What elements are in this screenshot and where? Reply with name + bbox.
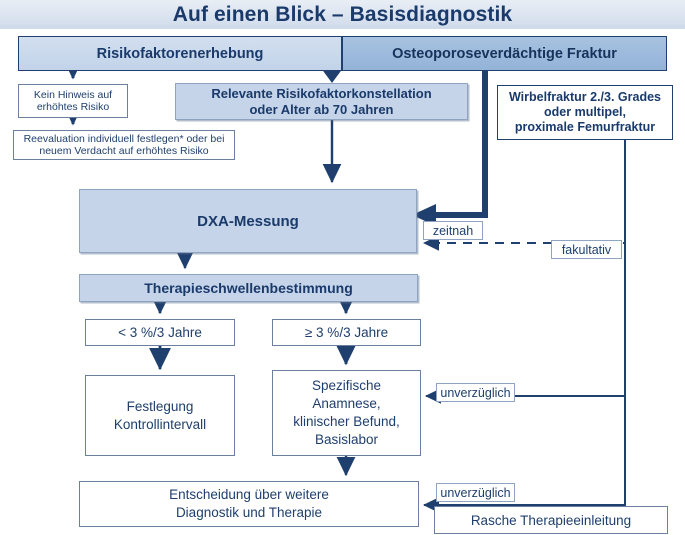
box-schwelle-ab-3-prozent[interactable]: ≥ 3 %/3 Jahre — [272, 319, 421, 346]
box-spezifische-label: Spezifische Anamnese, klinischer Befund,… — [293, 377, 400, 449]
edge-label-unverzueglich-spezifische: unverzüglich — [436, 383, 515, 402]
box-relevante-label: Relevante Risikofaktorkonstellation oder… — [211, 86, 431, 118]
box-wirbelfraktur[interactable]: Wirbelfraktur 2./3. Grades oder multipel… — [497, 85, 673, 140]
edge-label-unverzueglich-entscheidung: unverzüglich — [436, 483, 515, 502]
edge-label-zeitnah-text: zeitnah — [433, 224, 473, 238]
box-reevaluation-label: Reevaluation individuell festlegen* oder… — [24, 133, 225, 158]
box-therapieschwelle-label: Therapieschwellenbestimmung — [144, 280, 353, 296]
box-lt3-label: < 3 %/3 Jahre — [118, 325, 202, 340]
box-schwelle-unter-3-prozent[interactable]: < 3 %/3 Jahre — [85, 319, 235, 346]
box-festlegung-kontrollintervall[interactable]: Festlegung Kontrollintervall — [85, 375, 235, 456]
edge-wirbelfraktur-trunk — [434, 140, 625, 505]
box-therapieschwellenbestimmung[interactable]: Therapieschwellenbestimmung — [79, 274, 418, 302]
box-rasche-label: Rasche Therapieeinleitung — [471, 513, 631, 528]
edge-label-unverzueglich-1-text: unverzüglich — [440, 386, 510, 400]
box-rasche-therapieeinleitung[interactable]: Rasche Therapieeinleitung — [434, 506, 668, 534]
edge-label-fakultativ: fakultativ — [551, 240, 622, 259]
box-entscheidung-label: Entscheidung über weitere Diagnostik und… — [169, 486, 329, 522]
box-entscheidung-weitere-diagnostik[interactable]: Entscheidung über weitere Diagnostik und… — [79, 481, 419, 527]
header-right-label: Osteoporoseverdächtige Fraktur — [392, 46, 617, 62]
box-spezifische-anamnese[interactable]: Spezifische Anamnese, klinischer Befund,… — [272, 370, 421, 456]
box-wirbelfraktur-label: Wirbelfraktur 2./3. Grades oder multipel… — [509, 90, 661, 135]
header-box-osteoporoseverdaechtige-fraktur[interactable]: Osteoporoseverdächtige Fraktur — [342, 36, 667, 71]
box-dxa-messung[interactable]: DXA-Messung — [79, 189, 417, 253]
box-kein-hinweis[interactable]: Kein Hinweis auf erhöhtes Risiko — [18, 84, 128, 118]
box-kein-hinweis-label: Kein Hinweis auf erhöhtes Risiko — [34, 89, 112, 114]
header-left-label: Risikofaktorenerhebung — [97, 46, 264, 62]
box-festlegung-label: Festlegung Kontrollintervall — [114, 398, 206, 434]
box-dxa-label: DXA-Messung — [197, 213, 299, 230]
box-relevante-risikofaktorkonstellation[interactable]: Relevante Risikofaktorkonstellation oder… — [175, 83, 468, 120]
edge-label-unverzueglich-2-text: unverzüglich — [440, 486, 510, 500]
diagram-canvas: Auf einen Blick – Basisdiagnostik — [0, 0, 685, 535]
header-box-risikofaktorenerhebung[interactable]: Risikofaktorenerhebung — [18, 36, 342, 71]
box-reevaluation[interactable]: Reevaluation individuell festlegen* oder… — [13, 130, 235, 160]
edge-label-zeitnah: zeitnah — [423, 221, 483, 240]
box-ge3-label: ≥ 3 %/3 Jahre — [305, 325, 388, 340]
edge-label-fakultativ-text: fakultativ — [562, 243, 611, 257]
